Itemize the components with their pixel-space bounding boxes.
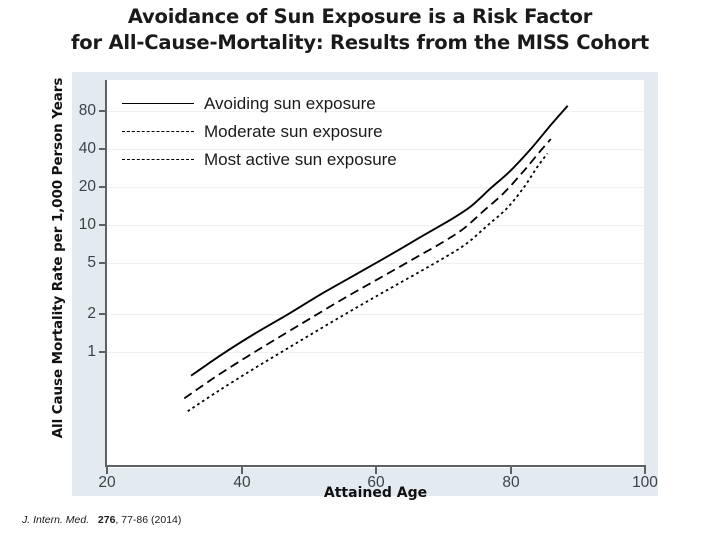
gridline-y-2 — [107, 314, 645, 315]
y-tick-40 — [99, 148, 106, 150]
x-tick-40 — [241, 467, 243, 474]
y-tick-80 — [99, 110, 106, 112]
x-axis-title: Attained Age — [105, 485, 646, 501]
y-tick-10 — [99, 224, 106, 226]
legend-label-avoiding: Avoiding sun exposure — [204, 94, 376, 114]
citation-volume: 276 — [98, 514, 116, 526]
x-tick-100 — [644, 467, 646, 474]
gridline-y-20 — [107, 187, 645, 188]
legend-item-moderate: Moderate sun exposure — [122, 118, 397, 146]
y-axis-title: All Cause Mortality Rate per 1,000 Perso… — [50, 58, 66, 458]
legend-item-avoiding: Avoiding sun exposure — [122, 90, 397, 118]
x-tick-80 — [510, 467, 512, 474]
citation: J. Intern. Med. 276, 77-86 (2014) — [22, 514, 181, 526]
citation-pages: , 77-86 (2014) — [115, 514, 181, 526]
title-line-1: Avoidance of Sun Exposure is a Risk Fact… — [0, 4, 720, 30]
x-tick-20 — [106, 467, 108, 474]
legend-key-dashed-line-icon — [122, 125, 194, 139]
title-line-2: for All-Cause-Mortality: Results from th… — [0, 30, 720, 56]
legend-key-solid-line-icon — [122, 97, 194, 111]
legend-item-most-active: Most active sun exposure — [122, 146, 397, 174]
legend-key-dotted-line-icon — [122, 153, 194, 167]
gridline-y-1 — [107, 352, 645, 353]
y-tick-2 — [99, 313, 106, 315]
gridline-y-10 — [107, 225, 645, 226]
citation-journal: J. Intern. Med. — [22, 514, 89, 526]
x-tick-60 — [375, 467, 377, 474]
legend-label-moderate: Moderate sun exposure — [204, 122, 383, 142]
y-tick-20 — [99, 186, 106, 188]
y-tick-1 — [99, 351, 106, 353]
y-axis-line — [105, 80, 107, 466]
y-tick-5 — [99, 262, 106, 264]
legend-label-most-active: Most active sun exposure — [204, 150, 397, 170]
gridline-y-5 — [107, 263, 645, 264]
chart-legend: Avoiding sun exposure Moderate sun expos… — [122, 90, 397, 174]
page-title: Avoidance of Sun Exposure is a Risk Fact… — [0, 4, 720, 56]
